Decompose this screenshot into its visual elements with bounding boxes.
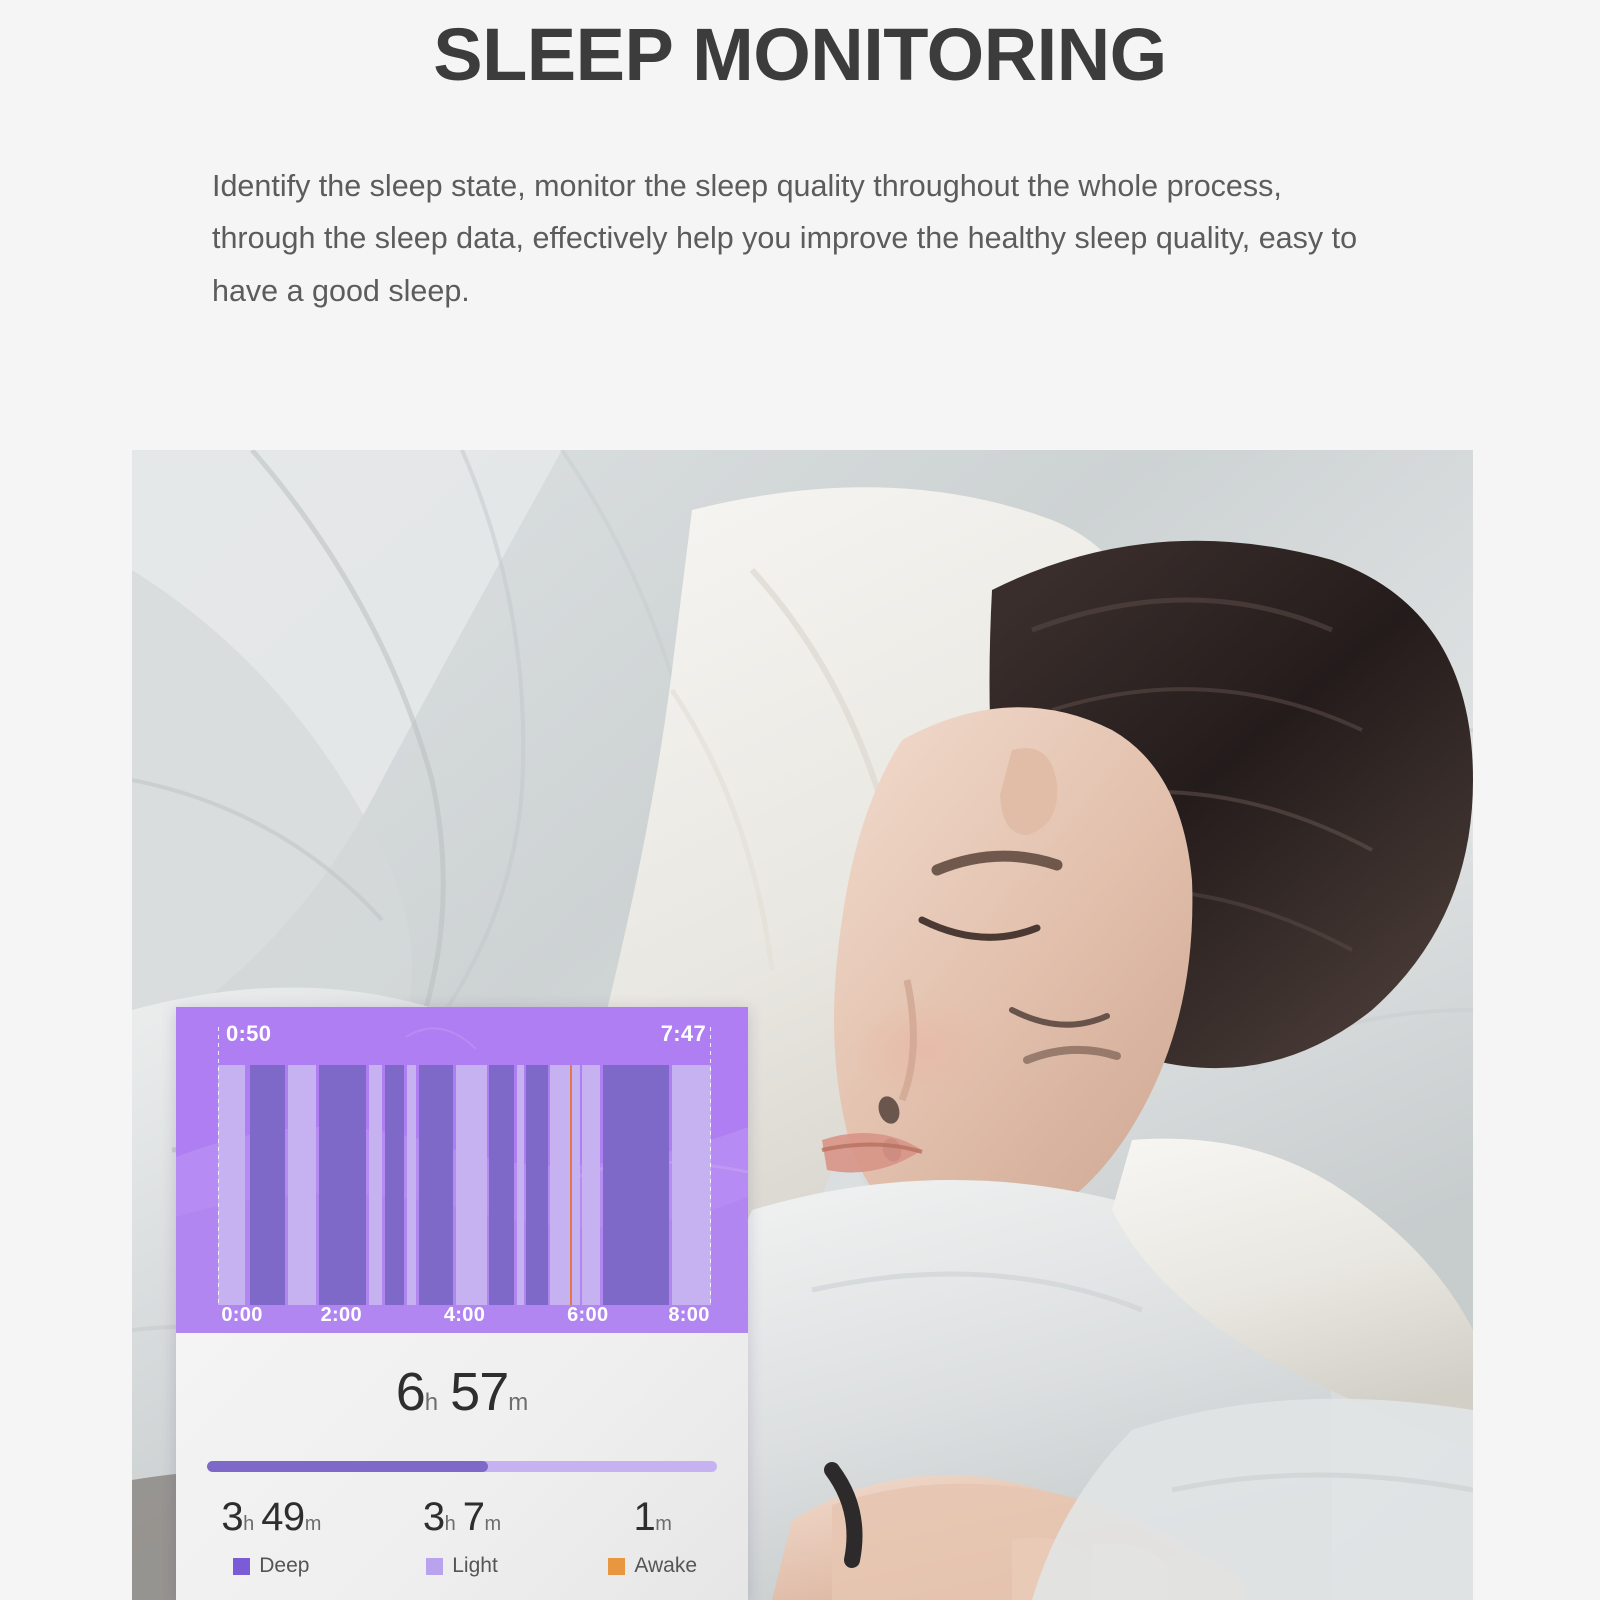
legend-awake: Awake — [557, 1554, 748, 1578]
axis-tick-2-00: 2:00 — [321, 1304, 362, 1327]
sleep-segment-deep-7 — [419, 1065, 454, 1305]
legend-label-awake: Awake — [634, 1554, 697, 1578]
legend-light: Light — [367, 1554, 558, 1578]
sleep-summary-card[interactable]: 0:50 7:47 0:002:004:006:008:00 6h57m 3h4… — [176, 1007, 748, 1600]
sleep-metrics-row: 3h49mDeep3h7mLight1mAwake — [176, 1495, 748, 1578]
metric-light-minutes: 7 — [463, 1495, 485, 1539]
sleep-start-time: 0:50 — [226, 1021, 271, 1047]
sleep-segment-deep-9 — [489, 1065, 514, 1305]
total-minutes-unit: m — [508, 1389, 528, 1416]
axis-tick-4-00: 4:00 — [444, 1304, 485, 1327]
sleep-segment-light-12 — [550, 1065, 580, 1305]
page-title: SLEEP MONITORING — [0, 14, 1600, 95]
sleep-segment-light-4 — [369, 1065, 382, 1305]
sleep-stage-chart[interactable]: 0:50 7:47 0:002:004:006:008:00 — [176, 1007, 748, 1333]
chart-time-range: 0:50 7:47 — [176, 1017, 748, 1059]
sleep-segment-deep-5 — [385, 1065, 405, 1305]
metric-light-hours-unit: h — [445, 1513, 456, 1535]
total-hours-unit: h — [425, 1389, 438, 1416]
sleep-segment-light-8 — [456, 1065, 487, 1305]
chart-x-axis: 0:002:004:006:008:00 — [176, 1295, 748, 1333]
sleep-segment-deep-11 — [526, 1065, 548, 1305]
metric-awake-minutes-unit: m — [655, 1513, 672, 1535]
sleep-segment-deep-1 — [250, 1065, 285, 1305]
sleep-segment-light-0 — [218, 1065, 245, 1305]
sleep-end-time: 7:47 — [661, 1021, 706, 1047]
sleep-segment-light-2 — [288, 1065, 315, 1305]
deep-sleep-portion — [207, 1461, 488, 1472]
awake-swatch-icon — [608, 1558, 625, 1575]
sleep-segment-deep-15 — [603, 1065, 670, 1305]
metric-light-value: 3h7m — [367, 1495, 558, 1540]
total-hours: 6 — [396, 1362, 425, 1422]
metric-deep-minutes-unit: m — [305, 1513, 322, 1535]
legend-deep: Deep — [176, 1554, 367, 1578]
metric-deep-minutes: 49 — [261, 1495, 305, 1539]
metric-light-hours: 3 — [423, 1495, 445, 1539]
metric-light: 3h7mLight — [367, 1495, 558, 1578]
sleep-composition-bar — [207, 1461, 717, 1472]
total-sleep-duration: 6h57m — [176, 1361, 748, 1423]
metric-deep: 3h49mDeep — [176, 1495, 367, 1578]
legend-label-light: Light — [452, 1554, 498, 1578]
page-subtitle: Identify the sleep state, monitor the sl… — [212, 160, 1392, 317]
chart-end-guide — [710, 1027, 711, 1305]
axis-tick-8-00: 8:00 — [668, 1304, 709, 1327]
chart-start-guide — [218, 1027, 219, 1305]
legend-label-deep: Deep — [259, 1554, 309, 1578]
light-swatch-icon — [426, 1558, 443, 1575]
sleep-segment-light-6 — [407, 1065, 416, 1305]
axis-tick-6-00: 6:00 — [567, 1304, 608, 1327]
sleep-segment-awake-13 — [570, 1065, 572, 1305]
metric-deep-value: 3h49m — [176, 1495, 367, 1540]
sleep-segment-light-16 — [672, 1065, 711, 1305]
deep-swatch-icon — [233, 1558, 250, 1575]
metric-awake-value: 1m — [557, 1495, 748, 1540]
sleep-segment-deep-3 — [319, 1065, 366, 1305]
metric-awake-minutes: 1 — [633, 1495, 655, 1539]
sleep-stage-bars — [218, 1065, 711, 1305]
sleep-segment-light-10 — [517, 1065, 524, 1305]
sleep-stats-panel: 6h57m 3h49mDeep3h7mLight1mAwake — [176, 1333, 748, 1600]
axis-tick-0-00: 0:00 — [221, 1304, 262, 1327]
total-minutes: 57 — [450, 1362, 508, 1422]
metric-deep-hours: 3 — [221, 1495, 243, 1539]
sleep-segment-light-14 — [582, 1065, 600, 1305]
sleep-monitoring-page: SLEEP MONITORING Identify the sleep stat… — [0, 0, 1600, 1600]
metric-light-minutes-unit: m — [484, 1513, 501, 1535]
metric-awake: 1mAwake — [557, 1495, 748, 1578]
metric-deep-hours-unit: h — [243, 1513, 254, 1535]
